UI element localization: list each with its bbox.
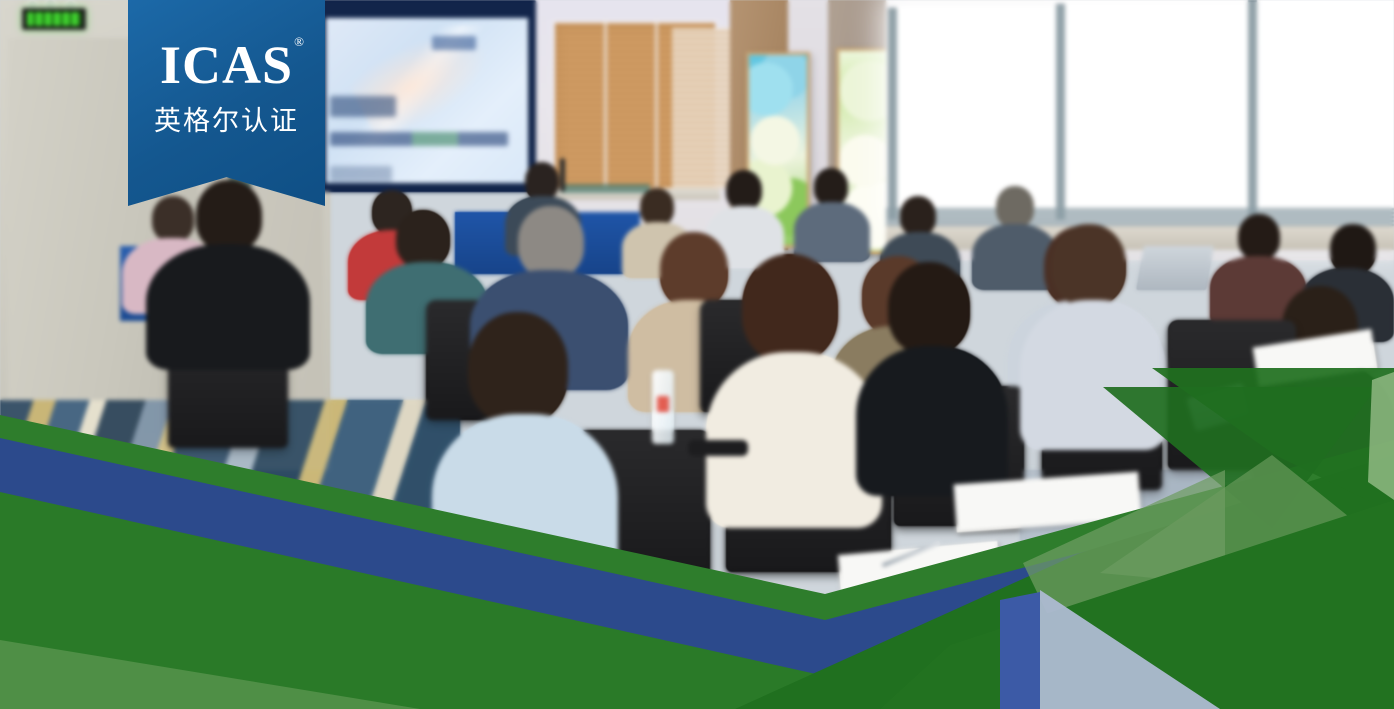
promotional-banner: ICAS ® 英格尔认证 — [0, 0, 1394, 709]
window-pane — [896, 6, 1056, 218]
wooden-blinds-side — [672, 28, 732, 188]
registered-trademark-icon: ® — [294, 34, 304, 50]
blind-divider — [655, 20, 658, 188]
window-mullion — [1248, 0, 1257, 228]
emergency-exit-sign-icon — [22, 8, 86, 30]
icas-logo-badge: ICAS ® 英格尔认证 — [128, 0, 325, 206]
screen-corner-logo-icon — [432, 36, 476, 50]
window-pane — [1068, 2, 1248, 224]
laptop-icon — [1136, 246, 1214, 290]
chair-arm — [688, 440, 748, 456]
sill-object — [560, 184, 650, 193]
screen-headline — [330, 96, 396, 117]
window-mullion — [888, 8, 897, 220]
screen-footnote — [330, 166, 392, 182]
microphone-icon — [560, 158, 565, 192]
window-lower-blind — [886, 208, 1394, 226]
water-bottle-icon — [652, 370, 674, 444]
icas-chinese-name: 英格尔认证 — [128, 99, 325, 138]
screen-subline — [330, 132, 508, 146]
window-mullion — [1056, 4, 1065, 220]
blind-divider — [604, 20, 607, 188]
window-ledge — [886, 226, 1394, 250]
window-pane — [1260, 0, 1394, 230]
